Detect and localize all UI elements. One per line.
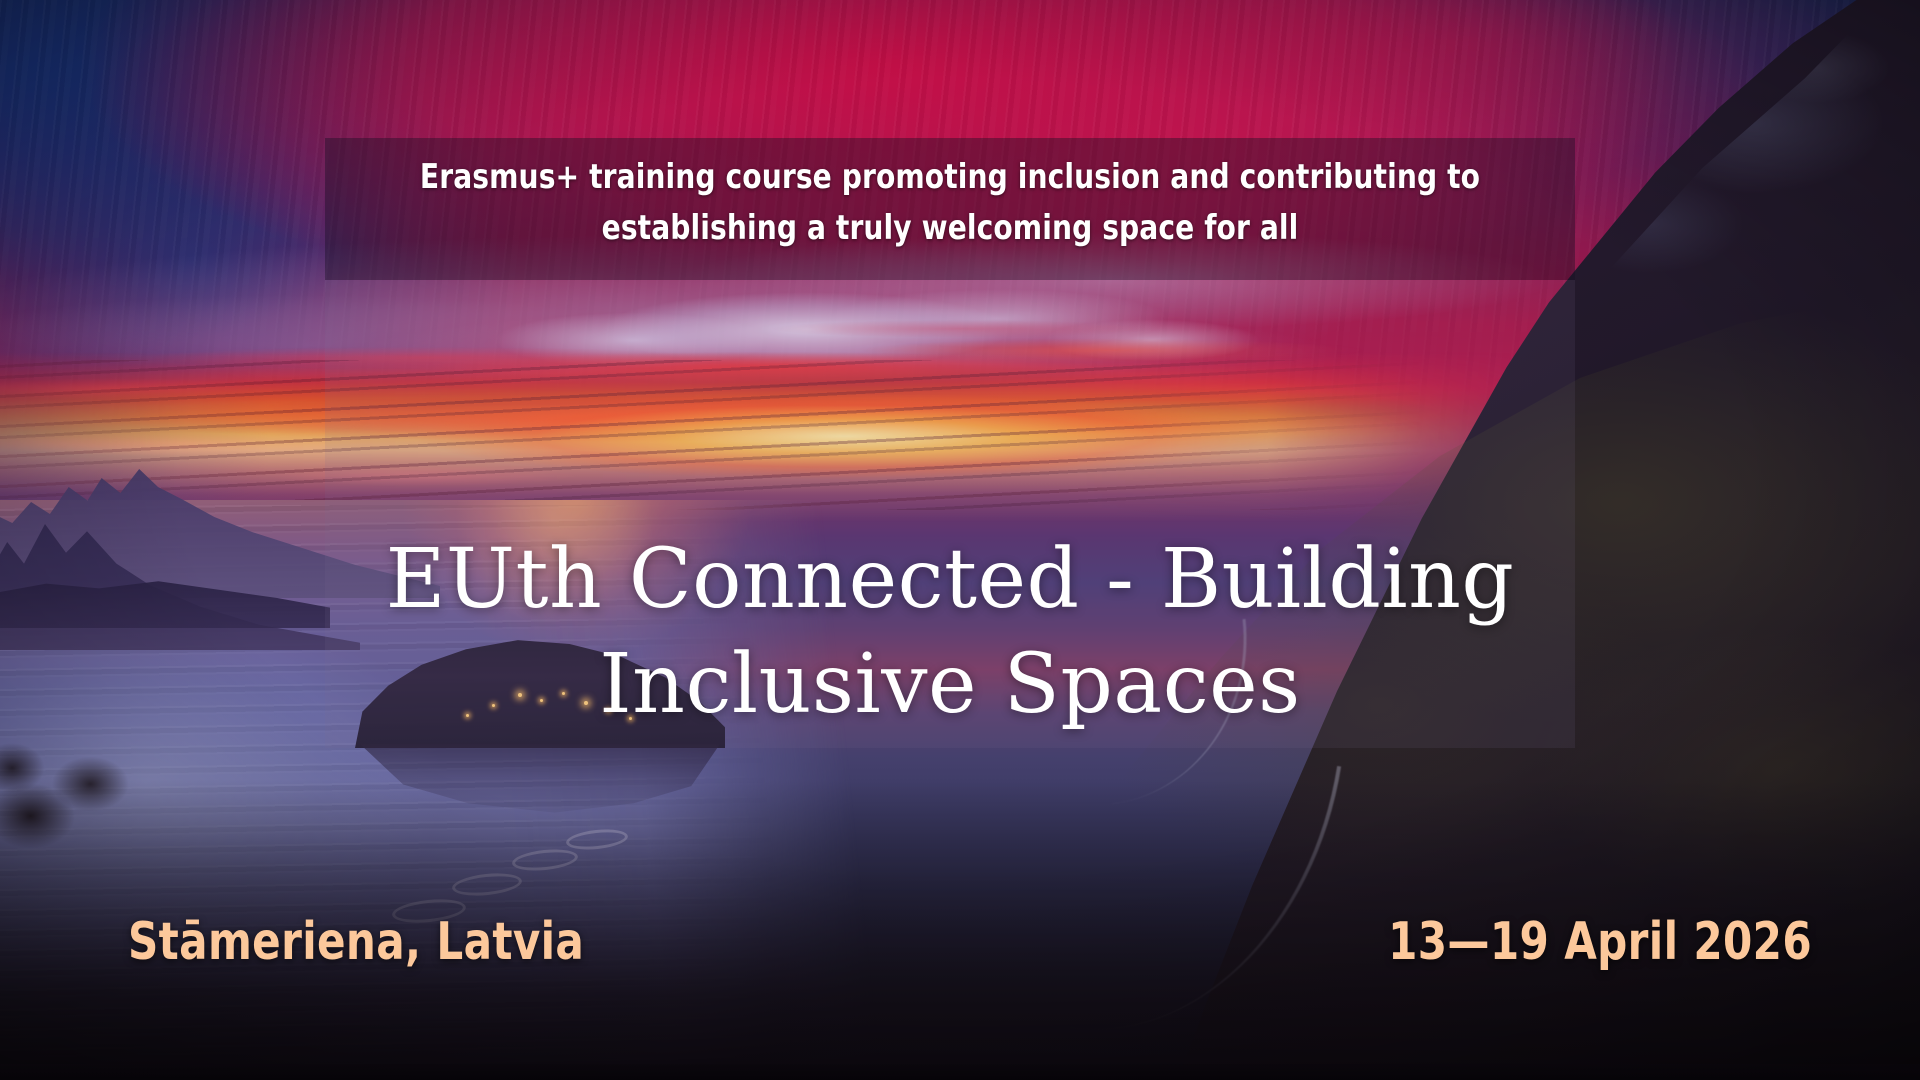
event-location: Stāmeriena, Latvia	[128, 912, 584, 972]
course-subtitle: Erasmus+ training course promoting inclu…	[375, 152, 1525, 254]
event-dates: 13—19 April 2026	[1388, 912, 1812, 972]
event-poster: Erasmus+ training course promoting inclu…	[0, 0, 1920, 1080]
page-title: EUth Connected - Building Inclusive Spac…	[300, 528, 1600, 738]
bottom-edge-strip	[0, 1064, 1920, 1080]
